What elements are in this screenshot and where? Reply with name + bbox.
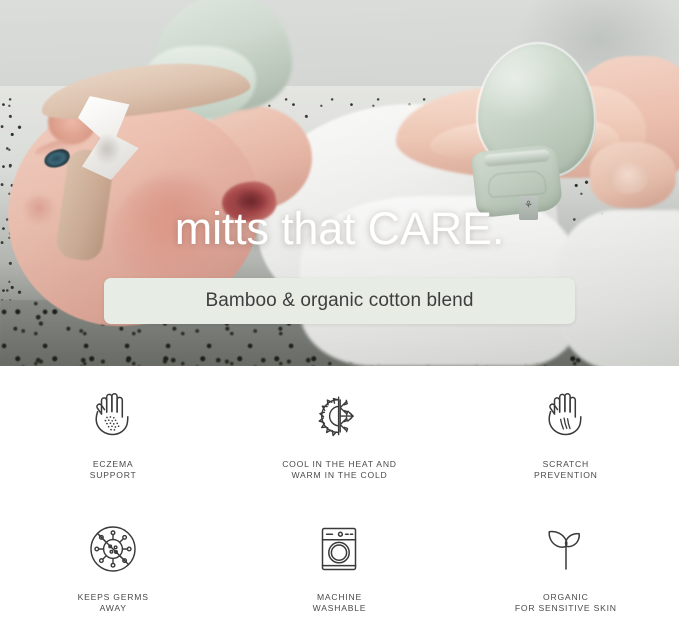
feature-label: SCRATCH PREVENTION	[534, 459, 598, 482]
feature-label: KEEPS GERMS AWAY	[78, 592, 149, 615]
feature-machine-washable: MACHINE WASHABLE	[226, 499, 452, 632]
feature-eczema-support: ECZEMA SUPPORT	[0, 366, 226, 499]
hero-text-layer: mitts that CARE. Bamboo & organic cotton…	[0, 0, 679, 366]
hero-section: ⚘ mitts that CARE. Bamboo & organic cott…	[0, 0, 679, 366]
feature-label: ORGANIC FOR SENSITIVE SKIN	[515, 592, 617, 615]
washing-machine-icon	[307, 517, 371, 581]
hand-with-scratches-icon	[534, 384, 598, 448]
sun-snowflake-icon	[307, 384, 371, 448]
sprout-leaf-icon	[534, 517, 598, 581]
product-feature-page: ⚘ mitts that CARE. Bamboo & organic cott…	[0, 0, 679, 632]
feature-keeps-germs-away: KEEPS GERMS AWAY	[0, 499, 226, 632]
feature-label: COOL IN THE HEAT AND WARM IN THE COLD	[282, 459, 397, 482]
feature-grid: ECZEMA SUPPORT	[0, 366, 679, 632]
feature-label: ECZEMA SUPPORT	[90, 459, 137, 482]
feature-temperature-regulating: COOL IN THE HEAT AND WARM IN THE COLD	[226, 366, 452, 499]
feature-scratch-prevention: SCRATCH PREVENTION	[453, 366, 679, 499]
feature-label: MACHINE WASHABLE	[313, 592, 367, 615]
hero-headline-text: mitts that CARE.	[175, 203, 504, 254]
no-germs-icon	[81, 517, 145, 581]
feature-organic-sensitive-skin: ORGANIC FOR SENSITIVE SKIN	[453, 499, 679, 632]
hero-headline: mitts that CARE.	[0, 206, 679, 251]
hero-subtitle-banner: Bamboo & organic cotton blend	[104, 278, 575, 324]
hero-subtitle-text: Bamboo & organic cotton blend	[205, 290, 473, 312]
hand-with-dots-icon	[81, 384, 145, 448]
